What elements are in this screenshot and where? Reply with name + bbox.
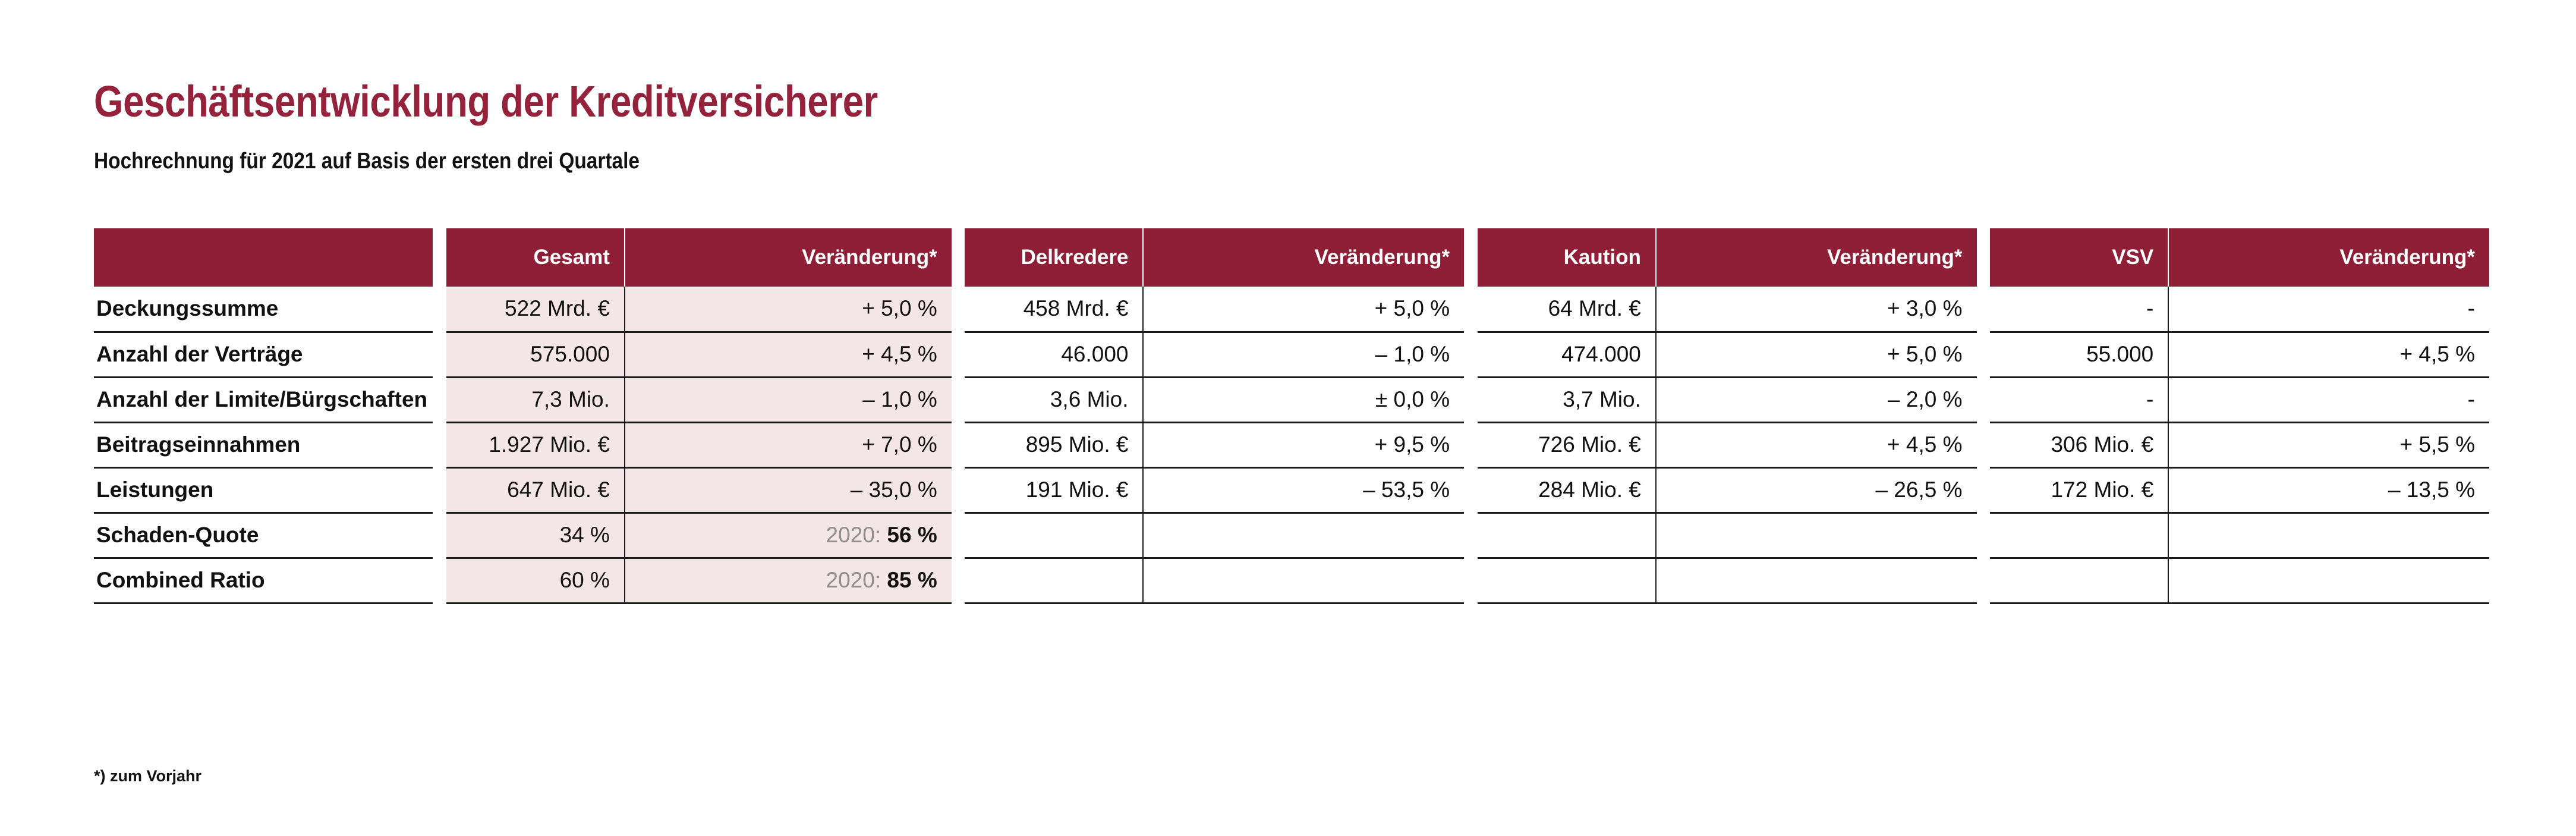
- cell-gesamt-change: 2020: 85 %: [625, 558, 952, 603]
- cell-vsv-change: – 13,5 %: [2168, 467, 2489, 513]
- cell-vsv-change: -: [2168, 287, 2489, 332]
- cell-kaution-change: + 4,5 %: [1656, 422, 1977, 467]
- cell-vsv-value: -: [1990, 377, 2168, 422]
- cell-gesamt-value: 34 %: [446, 513, 625, 558]
- cell-gesamt-value: 575.000: [446, 332, 625, 377]
- prev-year-value: 56 %: [887, 523, 937, 547]
- column-gap-1: [952, 558, 965, 603]
- cell-delkredere-value: 3,6 Mio.: [965, 377, 1143, 422]
- cell-vsv-value: [1990, 513, 2168, 558]
- table-row: Leistungen647 Mio. €– 35,0 %191 Mio. €– …: [94, 467, 2489, 513]
- table-row: Deckungssumme522 Mrd. €+ 5,0 %458 Mrd. €…: [94, 287, 2489, 332]
- prev-year-label: 2020:: [826, 568, 881, 592]
- cell-gesamt-change: + 7,0 %: [625, 422, 952, 467]
- cell-delkredere-value: [965, 513, 1143, 558]
- cell-delkredere-value: 895 Mio. €: [965, 422, 1143, 467]
- row-label: Anzahl der Verträge: [94, 332, 433, 377]
- cell-gesamt-value: 647 Mio. €: [446, 467, 625, 513]
- table-row: Schaden-Quote34 %2020: 56 %: [94, 513, 2489, 558]
- cell-kaution-value: 726 Mio. €: [1478, 422, 1656, 467]
- page-subtitle: Hochrechnung für 2021 auf Basis der erst…: [94, 149, 640, 174]
- cell-gesamt-value: 60 %: [446, 558, 625, 603]
- cell-kaution-value: [1478, 558, 1656, 603]
- column-gap-2: [1464, 513, 1477, 558]
- table-body: Deckungssumme522 Mrd. €+ 5,0 %458 Mrd. €…: [94, 287, 2489, 603]
- infographic-table-page: Geschäftsentwicklung der Kreditversicher…: [0, 0, 2576, 836]
- row-label: Beitragseinnahmen: [94, 422, 433, 467]
- cell-vsv-value: 55.000: [1990, 332, 2168, 377]
- page-title: Geschäftsentwicklung der Kreditversicher…: [94, 76, 878, 127]
- column-gap-0: [433, 422, 446, 467]
- cell-vsv-value: 172 Mio. €: [1990, 467, 2168, 513]
- cell-delkredere-value: 458 Mrd. €: [965, 287, 1143, 332]
- header-vsv-change: Veränderung*: [2168, 228, 2489, 287]
- cell-kaution-value: [1478, 513, 1656, 558]
- column-gap-0: [433, 287, 446, 332]
- column-gap-0: [433, 513, 446, 558]
- cell-kaution-change: – 2,0 %: [1656, 377, 1977, 422]
- header-gesamt-change: Veränderung*: [625, 228, 952, 287]
- column-gap-1: [952, 467, 965, 513]
- cell-kaution-change: [1656, 558, 1977, 603]
- header-vsv-value: VSV: [1990, 228, 2168, 287]
- column-gap-3: [1977, 287, 1990, 332]
- cell-vsv-change: [2168, 513, 2489, 558]
- column-gap-3: [1977, 467, 1990, 513]
- cell-kaution-value: 284 Mio. €: [1478, 467, 1656, 513]
- header-kaution-value: Kaution: [1478, 228, 1656, 287]
- cell-gesamt-value: 7,3 Mio.: [446, 377, 625, 422]
- column-gap-1: [952, 332, 965, 377]
- cell-vsv-value: 306 Mio. €: [1990, 422, 2168, 467]
- cell-kaution-value: 3,7 Mio.: [1478, 377, 1656, 422]
- cell-gesamt-value: 1.927 Mio. €: [446, 422, 625, 467]
- cell-vsv-change: + 4,5 %: [2168, 332, 2489, 377]
- header-gesamt-value: Gesamt: [446, 228, 625, 287]
- table-row: Combined Ratio60 %2020: 85 %: [94, 558, 2489, 603]
- column-gap-2: [1464, 558, 1477, 603]
- prev-year-value: 85 %: [887, 568, 937, 592]
- cell-vsv-change: + 5,5 %: [2168, 422, 2489, 467]
- column-gap-2: [1464, 287, 1477, 332]
- cell-gesamt-change: + 4,5 %: [625, 332, 952, 377]
- row-label: Schaden-Quote: [94, 513, 433, 558]
- cell-delkredere-change: + 5,0 %: [1143, 287, 1464, 332]
- column-gap-1: [952, 377, 965, 422]
- cell-kaution-value: 64 Mrd. €: [1478, 287, 1656, 332]
- cell-delkredere-change: [1143, 558, 1464, 603]
- header-gap-1: [952, 228, 965, 287]
- cell-vsv-change: [2168, 558, 2489, 603]
- column-gap-2: [1464, 377, 1477, 422]
- prev-year-label: 2020:: [826, 523, 881, 547]
- cell-vsv-value: -: [1990, 287, 2168, 332]
- column-gap-2: [1464, 332, 1477, 377]
- cell-gesamt-value: 522 Mrd. €: [446, 287, 625, 332]
- column-gap-1: [952, 422, 965, 467]
- table-row: Anzahl der Verträge575.000+ 4,5 %46.000–…: [94, 332, 2489, 377]
- business-development-table: Gesamt Veränderung* Delkredere Veränderu…: [94, 228, 2489, 604]
- cell-delkredere-change: + 9,5 %: [1143, 422, 1464, 467]
- header-gap-3: [1977, 228, 1990, 287]
- header-gap-2: [1464, 228, 1477, 287]
- cell-kaution-change: – 26,5 %: [1656, 467, 1977, 513]
- cell-gesamt-change: – 1,0 %: [625, 377, 952, 422]
- cell-delkredere-value: 46.000: [965, 332, 1143, 377]
- cell-kaution-change: + 3,0 %: [1656, 287, 1977, 332]
- column-gap-0: [433, 558, 446, 603]
- cell-delkredere-change: ± 0,0 %: [1143, 377, 1464, 422]
- column-gap-1: [952, 513, 965, 558]
- column-gap-3: [1977, 377, 1990, 422]
- header-gap-0: [433, 228, 446, 287]
- column-gap-3: [1977, 422, 1990, 467]
- header-kaution-change: Veränderung*: [1656, 228, 1977, 287]
- column-gap-0: [433, 467, 446, 513]
- cell-vsv-value: [1990, 558, 2168, 603]
- header-delkredere-value: Delkredere: [965, 228, 1143, 287]
- cell-gesamt-change: 2020: 56 %: [625, 513, 952, 558]
- column-gap-3: [1977, 513, 1990, 558]
- cell-gesamt-change: – 35,0 %: [625, 467, 952, 513]
- cell-delkredere-change: [1143, 513, 1464, 558]
- header-row-label: [94, 228, 433, 287]
- cell-gesamt-change: + 5,0 %: [625, 287, 952, 332]
- table-row: Anzahl der Limite/Bürgschaften7,3 Mio.– …: [94, 377, 2489, 422]
- row-label: Combined Ratio: [94, 558, 433, 603]
- row-label: Leistungen: [94, 467, 433, 513]
- table-header-row: Gesamt Veränderung* Delkredere Veränderu…: [94, 228, 2489, 287]
- column-gap-0: [433, 332, 446, 377]
- cell-delkredere-change: – 53,5 %: [1143, 467, 1464, 513]
- column-gap-3: [1977, 558, 1990, 603]
- column-gap-1: [952, 287, 965, 332]
- cell-vsv-change: -: [2168, 377, 2489, 422]
- row-label: Deckungssumme: [94, 287, 433, 332]
- header-delkredere-change: Veränderung*: [1143, 228, 1464, 287]
- row-label: Anzahl der Limite/Bürgschaften: [94, 377, 433, 422]
- column-gap-0: [433, 377, 446, 422]
- table-row: Beitragseinnahmen1.927 Mio. €+ 7,0 %895 …: [94, 422, 2489, 467]
- cell-delkredere-change: – 1,0 %: [1143, 332, 1464, 377]
- cell-kaution-change: [1656, 513, 1977, 558]
- data-table-container: Gesamt Veränderung* Delkredere Veränderu…: [94, 228, 2489, 604]
- cell-delkredere-value: 191 Mio. €: [965, 467, 1143, 513]
- cell-delkredere-value: [965, 558, 1143, 603]
- column-gap-2: [1464, 467, 1477, 513]
- cell-kaution-change: + 5,0 %: [1656, 332, 1977, 377]
- column-gap-2: [1464, 422, 1477, 467]
- cell-kaution-value: 474.000: [1478, 332, 1656, 377]
- footnote: *) zum Vorjahr: [94, 767, 201, 785]
- column-gap-3: [1977, 332, 1990, 377]
